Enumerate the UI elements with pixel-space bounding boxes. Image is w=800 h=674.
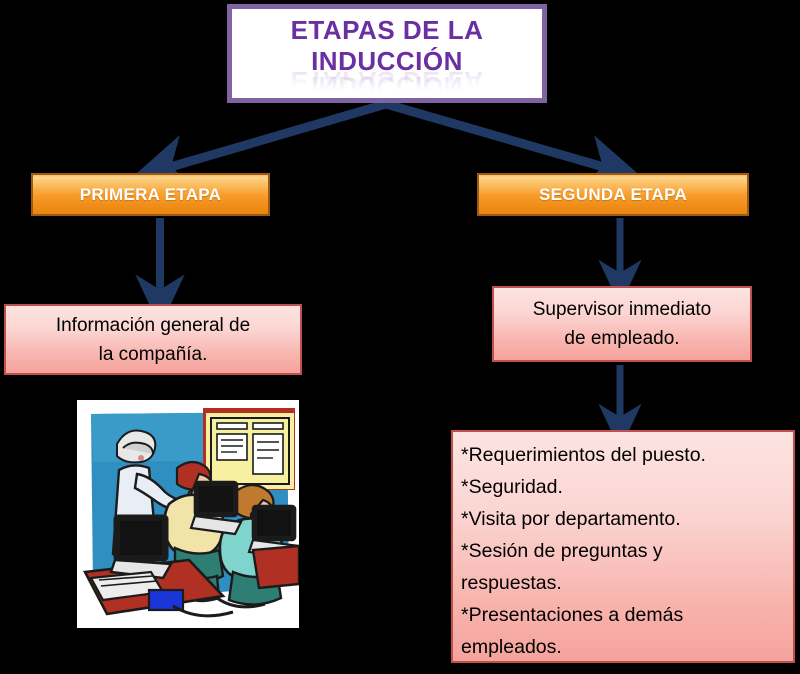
diagram-canvas: ETAPAS DE LA INDUCCIÓN ETAPAS DE LA INDU… xyxy=(0,0,800,674)
arrow-title-to-primera xyxy=(160,104,386,170)
stage-box-segunda-etapa[interactable]: SEGUNDA ETAPA xyxy=(477,173,749,216)
page-title-line-1: ETAPAS DE LA xyxy=(291,15,484,46)
training-session-clipart xyxy=(77,400,299,628)
supervisor-line-1: Supervisor inmediato xyxy=(533,295,711,324)
detail-box-segunda-etapa-items: *Requerimientos del puesto. *Seguridad. … xyxy=(451,430,795,663)
detail-text-wrapper: Información general de la compañía. xyxy=(56,311,250,369)
page-title-reflection-2: INDUCCIÓN xyxy=(311,70,463,101)
detail-line-1: Información general de xyxy=(56,311,250,340)
list-item: *Sesión de preguntas y xyxy=(461,535,787,567)
list-item: respuestas. xyxy=(461,567,787,599)
supervisor-line-2: de empleado. xyxy=(533,324,711,353)
stage-box-primera-etapa[interactable]: PRIMERA ETAPA xyxy=(31,173,270,216)
diagram-title-box: ETAPAS DE LA INDUCCIÓN ETAPAS DE LA INDU… xyxy=(227,4,547,103)
supervisor-text-wrapper: Supervisor inmediato de empleado. xyxy=(533,295,711,353)
list-item: *Visita por departamento. xyxy=(461,503,787,535)
list-item: *Presentaciones a demás xyxy=(461,599,787,631)
arrow-title-to-segunda xyxy=(386,104,614,170)
detail-box-informacion-general: Información general de la compañía. xyxy=(4,304,302,375)
list-item: *Seguridad. xyxy=(461,471,787,503)
detail-box-supervisor-inmediato: Supervisor inmediato de empleado. xyxy=(492,286,752,362)
list-item: *Requerimientos del puesto. xyxy=(461,439,787,471)
detail-line-2: la compañía. xyxy=(56,340,250,369)
list-item: empleados. xyxy=(461,631,787,663)
